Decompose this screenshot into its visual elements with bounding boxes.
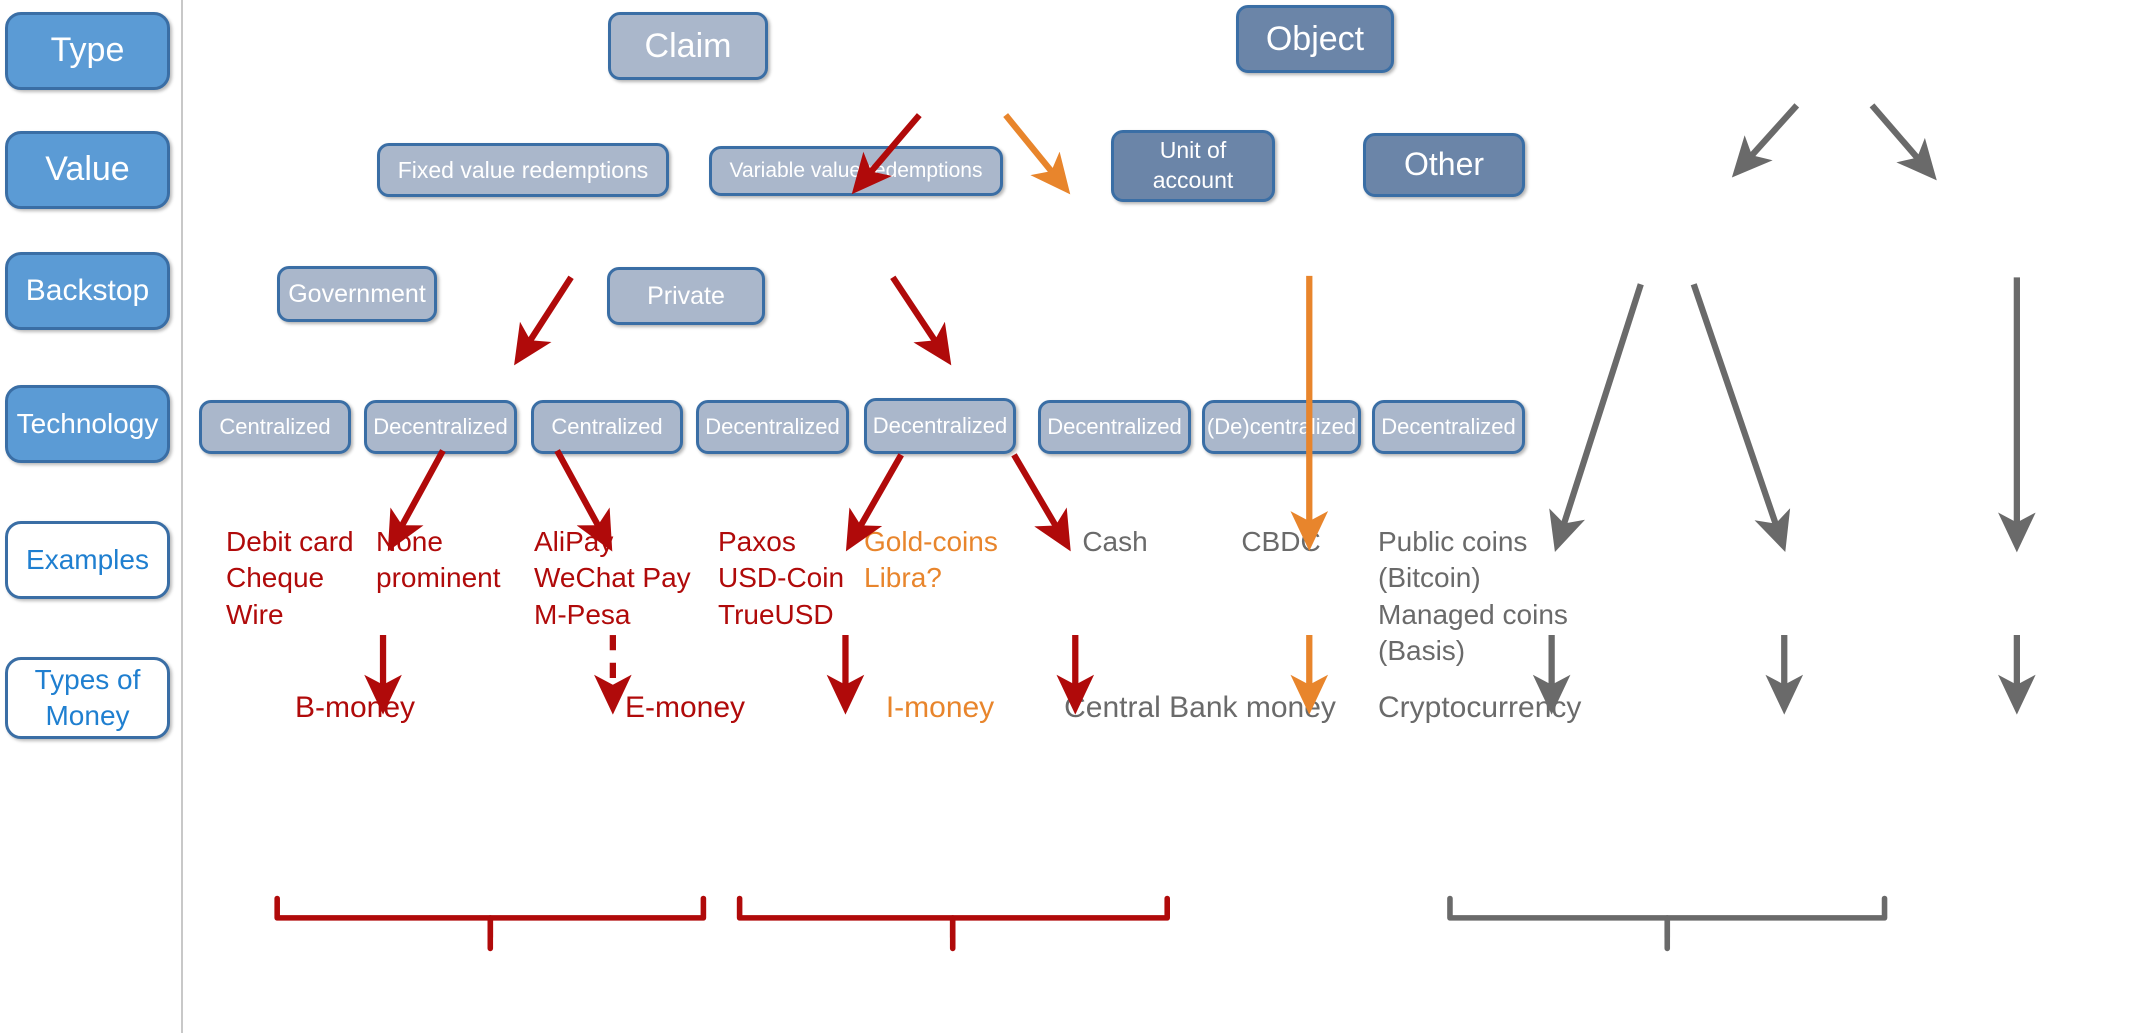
node-tech-other-decentralized: Decentralized xyxy=(1372,400,1525,454)
brace-e-money xyxy=(740,899,1168,938)
examples-gov-decentralized: None prominent xyxy=(376,524,556,597)
row-label-examples-text: Examples xyxy=(26,545,149,574)
node-government-label: Government xyxy=(288,281,426,308)
node-object: Object xyxy=(1236,5,1394,73)
row-label-technology-text: Technology xyxy=(17,409,159,438)
examples-cbdc: CBDC xyxy=(1216,524,1346,560)
node-tech-priv-decentralized: Decentralized xyxy=(696,400,849,454)
node-other: Other xyxy=(1363,133,1525,197)
node-unit-of-account: Unit of account xyxy=(1111,130,1275,202)
left-column-divider xyxy=(181,0,183,1033)
node-tech-gov-centralized-label: Centralized xyxy=(219,415,330,438)
node-tech-priv-decentralized-label: Decentralized xyxy=(705,415,840,438)
row-label-examples: Examples xyxy=(5,521,170,599)
examples-variable: Gold-coins Libra? xyxy=(864,524,1054,597)
arrow-claim-to-variable xyxy=(1006,115,1066,188)
row-label-backstop: Backstop xyxy=(5,252,170,330)
node-tech-gov-centralized: Centralized xyxy=(199,400,351,454)
types-of-money-cryptocurrency: Cryptocurrency xyxy=(1378,688,1628,727)
arrow-fixed-to-private xyxy=(893,277,947,359)
arrow-fixed-to-government xyxy=(518,277,571,359)
examples-other: Public coins (Bitcoin) Managed coins (Ba… xyxy=(1378,524,1608,670)
types-of-money-central-bank-money: Central Bank money xyxy=(1040,688,1360,727)
node-tech-variable-decentralized-label: Decentralized xyxy=(873,414,1008,437)
row-label-value-text: Value xyxy=(45,152,129,188)
node-tech-uoa-decentralized: Decentralized xyxy=(1038,400,1191,454)
node-tech-uoa-decentralized-label: Decentralized xyxy=(1047,415,1182,438)
node-claim-label: Claim xyxy=(645,28,732,64)
row-label-type-text: Type xyxy=(51,33,125,69)
node-tech-variable-decentralized: Decentralized xyxy=(864,398,1016,454)
types-of-money-e-money: E-money xyxy=(570,688,800,727)
node-tech-gov-decentralized: Decentralized xyxy=(364,400,517,454)
node-fixed-value-redemptions-label: Fixed value redemptions xyxy=(398,158,649,182)
row-label-backstop-text: Backstop xyxy=(26,275,149,307)
node-variable-value-redemptions: Variable value redemptions xyxy=(709,146,1003,196)
row-label-types-of-money-text: Types of Money xyxy=(35,662,141,735)
examples-priv-centralized: AliPay WeChat Pay M-Pesa xyxy=(534,524,734,633)
node-tech-gov-decentralized-label: Decentralized xyxy=(373,415,508,438)
node-private-label: Private xyxy=(647,283,725,310)
arrow-unit-of-account-to-de-centralized xyxy=(1694,284,1783,545)
brace-central-bank-money xyxy=(1450,899,1885,938)
node-tech-priv-centralized: Centralized xyxy=(531,400,683,454)
node-government: Government xyxy=(277,266,437,322)
row-label-types-of-money: Types of Money xyxy=(5,657,170,739)
node-unit-of-account-label: Unit of account xyxy=(1153,136,1234,196)
row-label-value: Value xyxy=(5,131,170,209)
node-claim: Claim xyxy=(608,12,768,80)
row-label-type: Type xyxy=(5,12,170,90)
arrow-unit-of-account-to-decentralized xyxy=(1557,284,1641,545)
arrow-object-to-other xyxy=(1872,105,1932,174)
node-tech-priv-centralized-label: Centralized xyxy=(551,415,662,438)
node-tech-uoa-de-centralized: (De)centralized xyxy=(1202,400,1361,454)
row-label-technology: Technology xyxy=(5,385,170,463)
node-object-label: Object xyxy=(1266,21,1364,57)
brace-b-money xyxy=(277,899,703,938)
node-fixed-value-redemptions: Fixed value redemptions xyxy=(377,143,669,197)
node-other-label: Other xyxy=(1404,148,1484,182)
node-tech-uoa-de-centralized-label: (De)centralized xyxy=(1207,415,1356,438)
money-taxonomy-diagram: Type Value Backstop Technology Examples … xyxy=(0,0,2145,1033)
node-private: Private xyxy=(607,267,765,325)
node-variable-value-redemptions-label: Variable value redemptions xyxy=(730,160,983,182)
types-of-money-i-money: I-money xyxy=(860,688,1020,727)
examples-cash: Cash xyxy=(1050,524,1180,560)
connector-overlay xyxy=(0,0,2145,1033)
types-of-money-b-money: B-money xyxy=(240,688,470,727)
node-tech-other-decentralized-label: Decentralized xyxy=(1381,415,1516,438)
arrow-object-to-unit-of-account xyxy=(1737,105,1797,172)
